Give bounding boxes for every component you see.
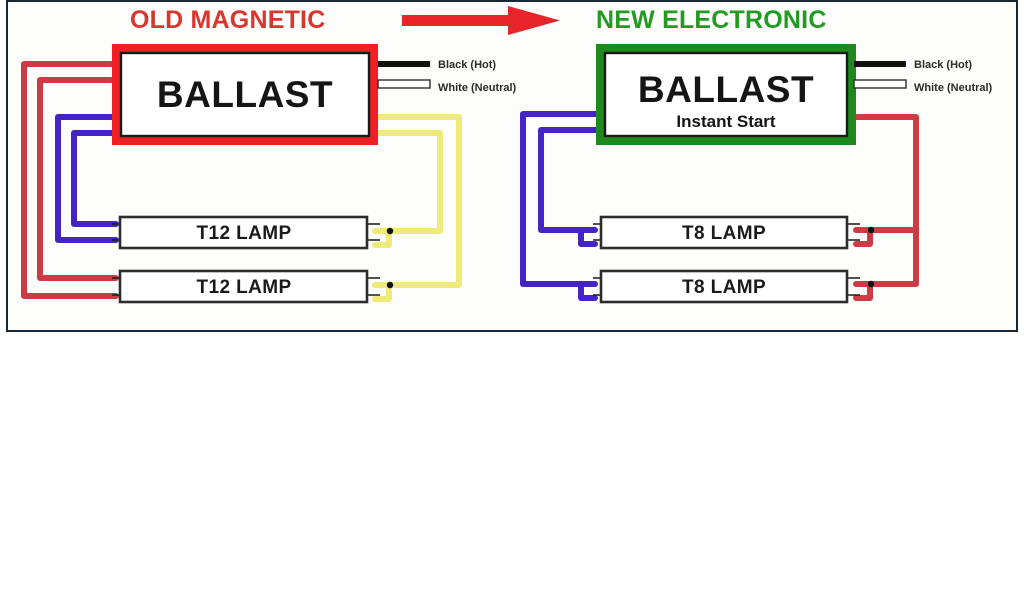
wire-junction-dot (868, 281, 874, 287)
lead-black-label-old: Black (Hot) (438, 59, 496, 71)
lead-black-new (854, 61, 906, 67)
lamp-new-2-label: T8 LAMP (682, 277, 766, 298)
ballast-new-label: BALLAST (638, 69, 814, 110)
lead-white-label-old: White (Neutral) (438, 82, 517, 94)
ballast-new[interactable]: BALLAST Instant Start (596, 44, 856, 145)
lamp-old-1-label: T12 LAMP (196, 223, 291, 244)
lead-white-old (378, 80, 430, 88)
lamp-old-2[interactable]: T12 LAMP (120, 271, 367, 302)
diagram-frame: OLD MAGNETIC NEW ELECTRONIC (6, 0, 1018, 332)
lamp-old-2-label: T12 LAMP (196, 277, 291, 298)
panel-heading-new: NEW ELECTRONIC (596, 6, 827, 34)
wire-group-new-red (854, 117, 916, 298)
panel-heading-old: OLD MAGNETIC (130, 6, 325, 34)
lamp-new-2[interactable]: T8 LAMP (601, 271, 847, 302)
lamp-old-1[interactable]: T12 LAMP (120, 217, 367, 248)
right-arrow-icon (402, 6, 560, 35)
ballast-new-sublabel: Instant Start (676, 112, 776, 131)
wire-group-new-blue (523, 114, 598, 298)
ballast-old-label: BALLAST (157, 74, 333, 115)
wire-junction-dot (868, 227, 874, 233)
wire-group-old-yellow (375, 117, 459, 299)
lead-black-label-new: Black (Hot) (914, 59, 972, 71)
lead-white-new (854, 80, 906, 88)
wire-group-old-blue (58, 117, 116, 240)
line-leads-old: Black (Hot) White (Neutral) (378, 59, 517, 94)
line-leads-new: Black (Hot) White (Neutral) (854, 59, 993, 94)
lamp-new-1-label: T8 LAMP (682, 223, 766, 244)
lead-white-label-new: White (Neutral) (914, 82, 993, 94)
page-root: OLD MAGNETIC NEW ELECTRONIC (0, 0, 1024, 600)
wire-junction-dot (387, 282, 393, 288)
wire-group-old-red (24, 64, 116, 296)
lead-black-old (378, 61, 430, 67)
wire-junction-dot (387, 228, 393, 234)
ballast-old[interactable]: BALLAST (112, 44, 378, 145)
wiring-diagram-svg: OLD MAGNETIC NEW ELECTRONIC (8, 2, 1016, 330)
lamp-new-1[interactable]: T8 LAMP (601, 217, 847, 248)
